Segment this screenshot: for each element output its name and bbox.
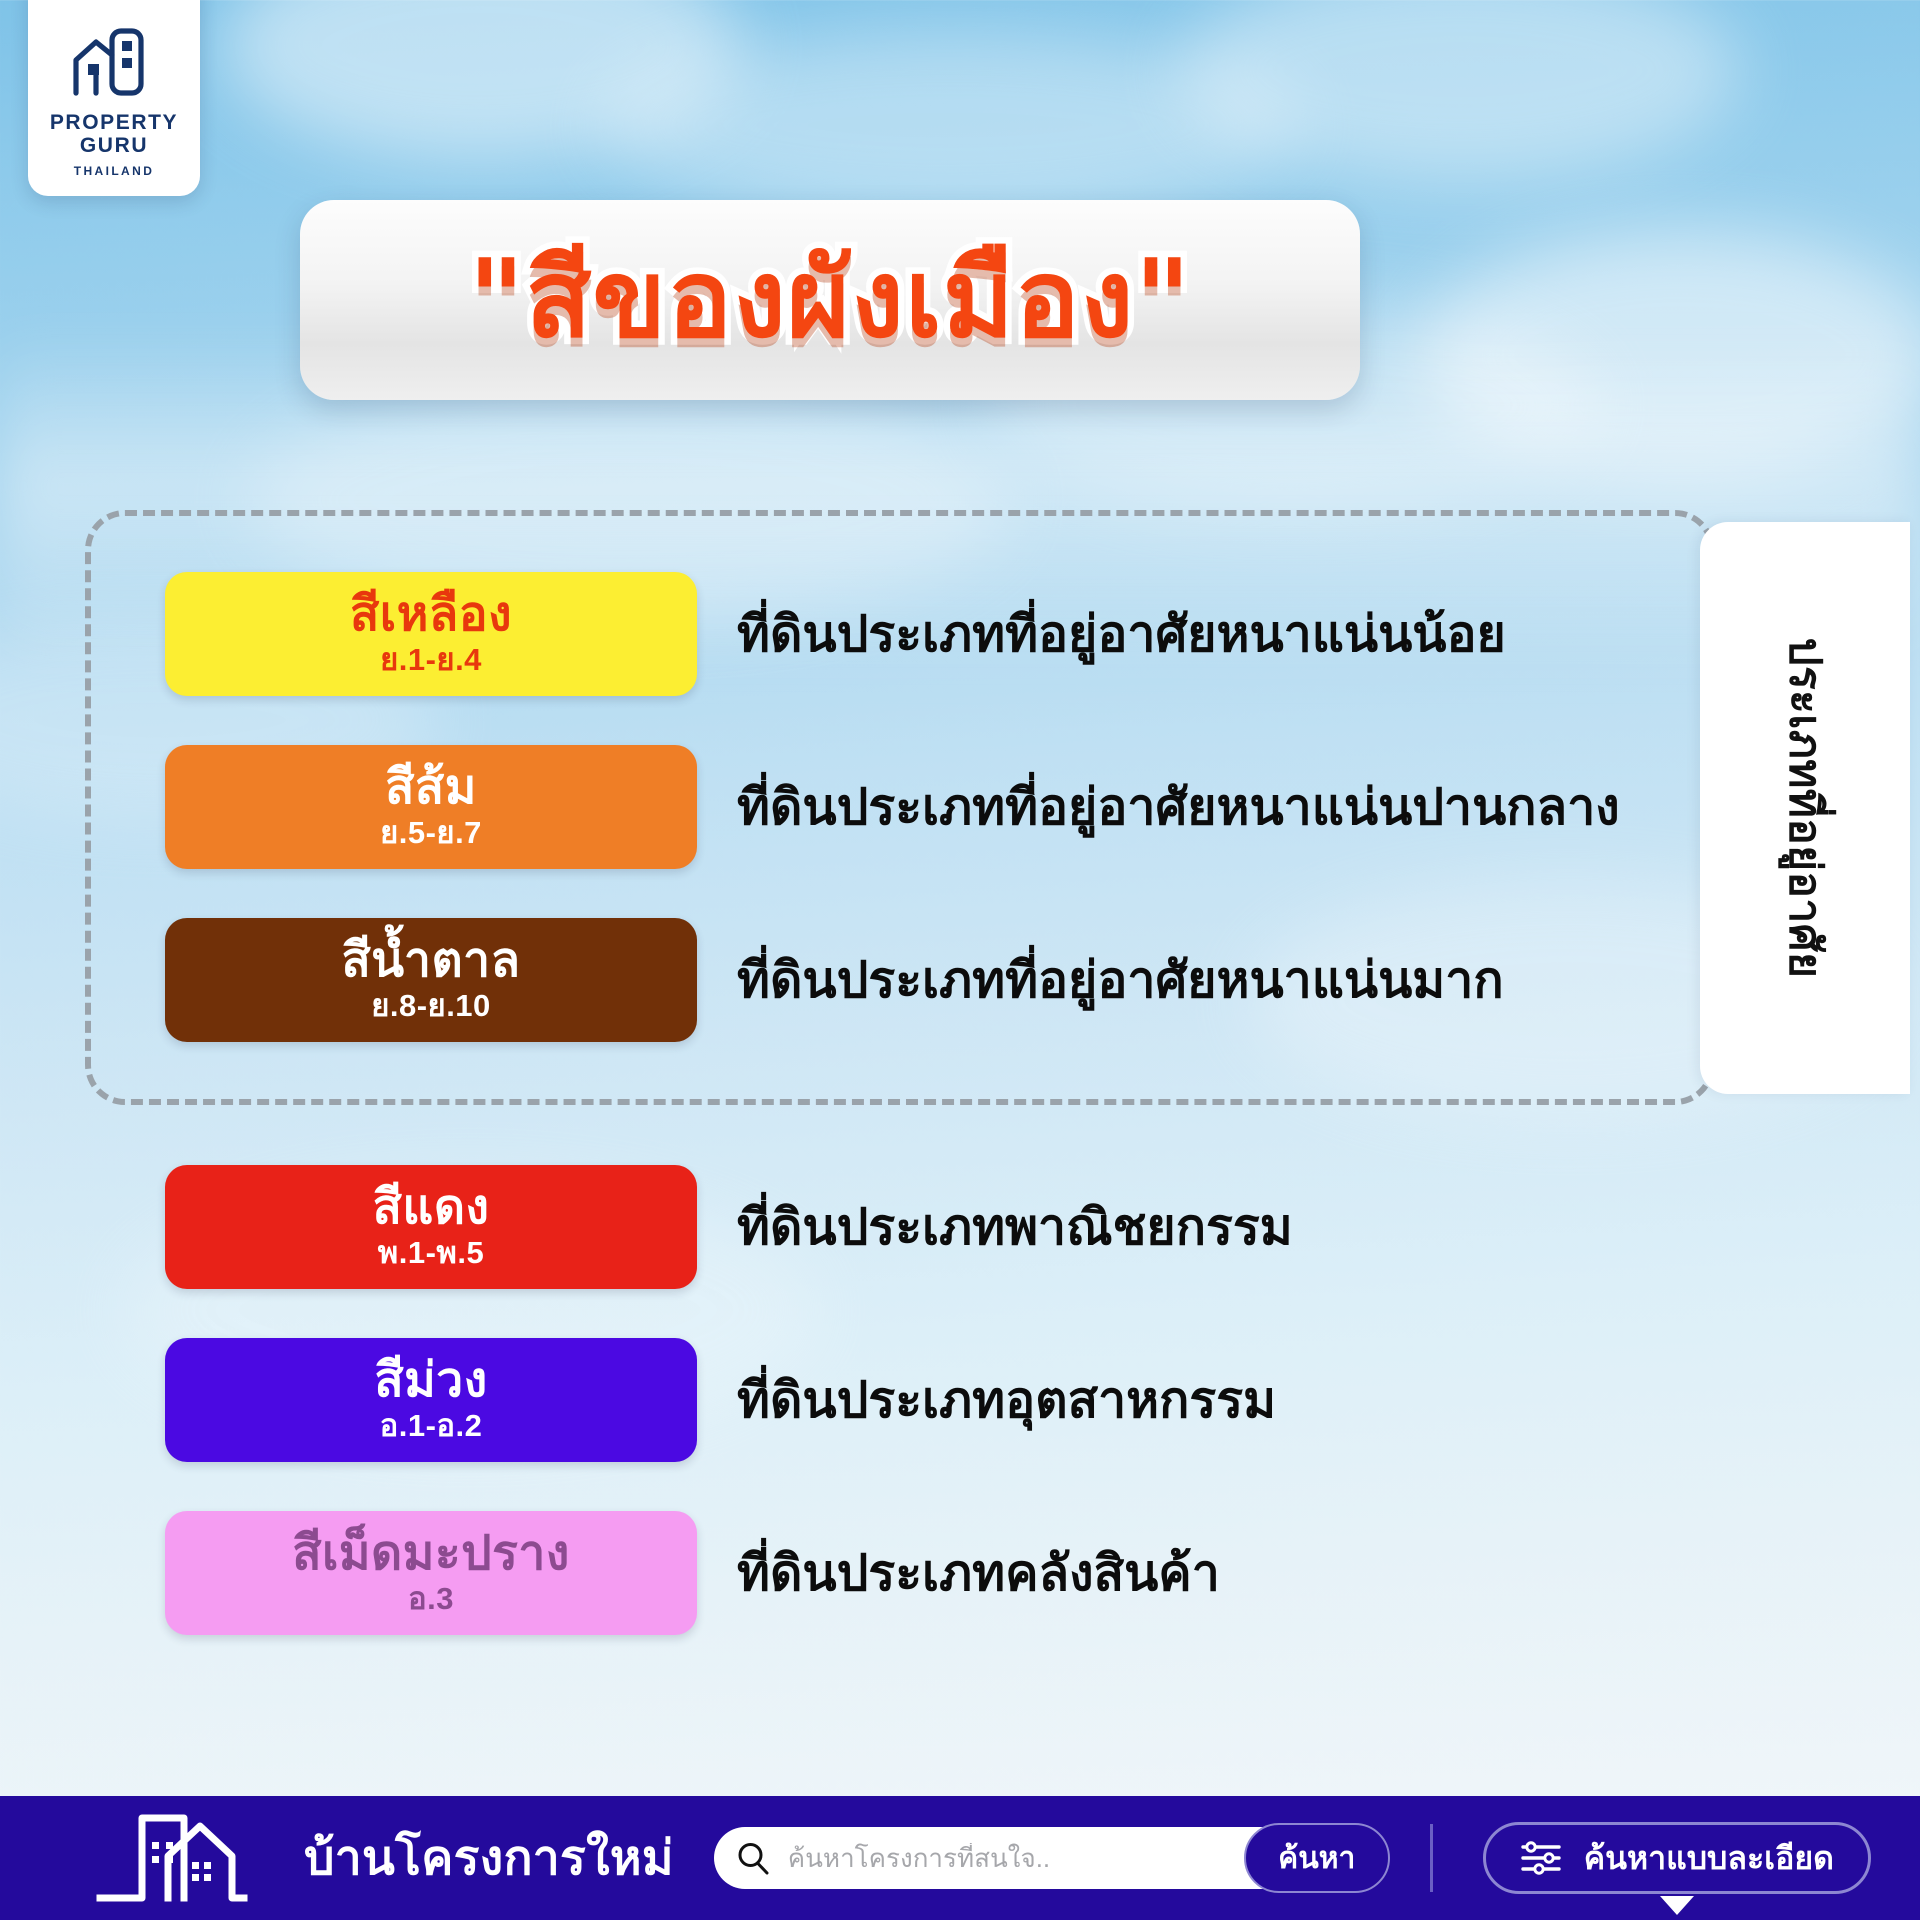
- house-building-outline-icon: [96, 1812, 248, 1904]
- color-badge-purple: สีม่วง อ.1-อ.2: [165, 1338, 697, 1462]
- legend-row: สีเม็ดมะปราง อ.3 ที่ดินประเภทคลังสินค้า: [165, 1511, 1220, 1635]
- advanced-search-button[interactable]: ค้นหาแบบละเอียด: [1483, 1822, 1871, 1894]
- badge-color-name: สีน้ำตาล: [341, 937, 520, 986]
- legend-description: ที่ดินประเภทที่อยู่อาศัยหนาแน่นมาก: [737, 941, 1504, 1020]
- headline-plaque: "สีของผังเมือง": [300, 200, 1360, 400]
- legend-description: ที่ดินประเภทที่อยู่อาศัยหนาแน่นน้อย: [737, 595, 1506, 674]
- brand-name-line1: PROPERTY: [50, 111, 178, 135]
- legend-row: สีน้ำตาล ย.8-ย.10 ที่ดินประเภทที่อยู่อาศ…: [165, 918, 1504, 1042]
- brand-logo-card: PROPERTY GURU THAILAND: [28, 0, 200, 196]
- badge-color-name: สีส้ม: [385, 764, 477, 813]
- legend-row: สีแดง พ.1-พ.5 ที่ดินประเภทพาณิชยกรรม: [165, 1165, 1293, 1289]
- badge-color-name: สีม่วง: [374, 1357, 487, 1406]
- badge-color-name: สีแดง: [373, 1184, 490, 1233]
- color-badge-yellow: สีเหลือง ย.1-ย.4: [165, 572, 697, 696]
- brand-name-line2: GURU: [80, 134, 148, 158]
- filter-sliders-icon: [1520, 1841, 1562, 1875]
- color-badge-brown: สีน้ำตาล ย.8-ย.10: [165, 918, 697, 1042]
- badge-color-name: สีเหลือง: [350, 591, 512, 640]
- house-building-icon: [72, 27, 156, 101]
- residential-group-label: ประเภทที่อยู่อาศัย: [1770, 638, 1840, 979]
- badge-zone-code: ย.1-ย.4: [380, 642, 482, 678]
- search-bar[interactable]: ค้นหา: [714, 1827, 1374, 1889]
- badge-color-name: สีเม็ดมะปราง: [292, 1530, 570, 1579]
- legend-description: ที่ดินประเภทอุตสาหกรรม: [737, 1361, 1276, 1440]
- color-badge-red: สีแดง พ.1-พ.5: [165, 1165, 697, 1289]
- footer-divider: [1430, 1824, 1433, 1892]
- badge-zone-code: ย.5-ย.7: [380, 815, 482, 851]
- cloud-decoration: [220, 0, 740, 160]
- caret-down-icon: [1660, 1896, 1694, 1915]
- brand-country-label: THAILAND: [74, 164, 155, 178]
- badge-zone-code: พ.1-พ.5: [378, 1235, 484, 1271]
- color-badge-orange: สีส้ม ย.5-ย.7: [165, 745, 697, 869]
- legend-description: ที่ดินประเภทคลังสินค้า: [737, 1534, 1220, 1613]
- legend-row: สีเหลือง ย.1-ย.4 ที่ดินประเภทที่อยู่อาศั…: [165, 572, 1506, 696]
- cloud-decoration: [600, 30, 1300, 220]
- footer-search-bar: บ้านโครงการใหม่ ค้นหา: [0, 1796, 1920, 1920]
- footer-title: บ้านโครงการใหม่: [304, 1820, 674, 1896]
- legend-row: สีส้ม ย.5-ย.7 ที่ดินประเภทที่อยู่อาศัยหน…: [165, 745, 1620, 869]
- badge-zone-code: อ.3: [408, 1581, 454, 1617]
- cloud-decoration: [1180, 0, 1740, 180]
- cloud-decoration: [1420, 230, 1920, 480]
- color-badge-pink: สีเม็ดมะปราง อ.3: [165, 1511, 697, 1635]
- residential-group-tab: ประเภทที่อยู่อาศัย: [1700, 522, 1910, 1094]
- advanced-search-label: ค้นหาแบบละเอียด: [1584, 1833, 1834, 1884]
- legend-description: ที่ดินประเภทที่อยู่อาศัยหนาแน่นปานกลาง: [737, 768, 1620, 847]
- search-icon: [736, 1841, 770, 1875]
- search-button[interactable]: ค้นหา: [1244, 1823, 1390, 1893]
- legend-row: สีม่วง อ.1-อ.2 ที่ดินประเภทอุตสาหกรรม: [165, 1338, 1276, 1462]
- page-title: "สีของผังเมือง": [468, 246, 1192, 354]
- badge-zone-code: อ.1-อ.2: [380, 1408, 483, 1444]
- legend-description: ที่ดินประเภทพาณิชยกรรม: [737, 1188, 1293, 1267]
- badge-zone-code: ย.8-ย.10: [371, 988, 491, 1024]
